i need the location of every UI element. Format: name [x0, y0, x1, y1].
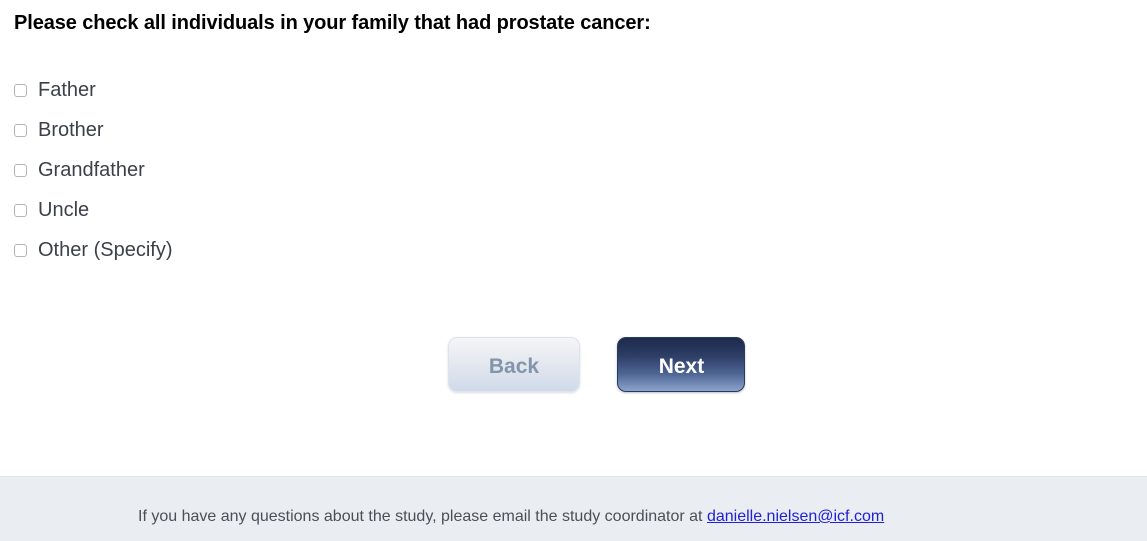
list-item[interactable]: Uncle	[14, 190, 172, 230]
checkbox-brother[interactable]	[14, 124, 27, 137]
family-member-checkbox-group: Father Brother Grandfather Uncle Other (…	[14, 70, 172, 270]
checkbox-label-other: Other (Specify)	[38, 240, 172, 260]
checkbox-label-father: Father	[38, 80, 96, 100]
footer-bar: If you have any questions about the stud…	[0, 476, 1147, 541]
survey-page: Please check all individuals in your fam…	[0, 0, 1147, 541]
checkbox-label-brother: Brother	[38, 120, 104, 140]
list-item[interactable]: Brother	[14, 110, 172, 150]
checkbox-label-uncle: Uncle	[38, 200, 89, 220]
list-item[interactable]: Grandfather	[14, 150, 172, 190]
checkbox-father[interactable]	[14, 84, 27, 97]
checkbox-other[interactable]	[14, 244, 27, 257]
footer-message: If you have any questions about the stud…	[138, 508, 884, 526]
page-title: Please check all individuals in your fam…	[14, 12, 651, 35]
next-button[interactable]: Next	[617, 337, 745, 392]
checkbox-uncle[interactable]	[14, 204, 27, 217]
list-item[interactable]: Other (Specify)	[14, 230, 172, 270]
footer-message-text: If you have any questions about the stud…	[138, 508, 707, 525]
checkbox-grandfather[interactable]	[14, 164, 27, 177]
navigation-buttons: Back Next	[448, 337, 745, 392]
list-item[interactable]: Father	[14, 70, 172, 110]
coordinator-email-link[interactable]: danielle.nielsen@icf.com	[707, 508, 884, 525]
back-button[interactable]: Back	[448, 337, 580, 392]
checkbox-label-grandfather: Grandfather	[38, 160, 145, 180]
